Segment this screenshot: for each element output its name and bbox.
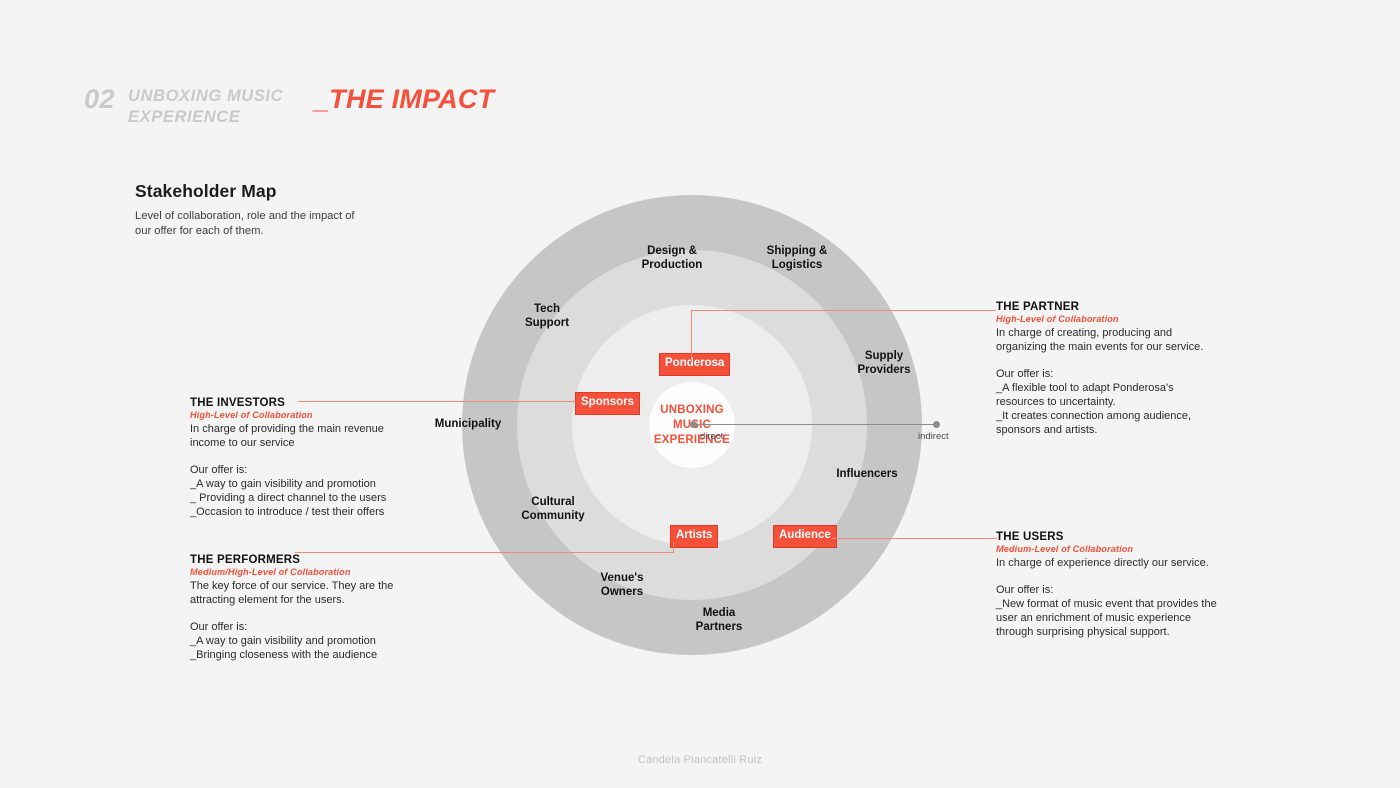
- axis-line: [693, 424, 937, 425]
- axis-label-direct: direct: [700, 431, 723, 442]
- block-investors-body: In charge of providing the main revenue …: [190, 422, 420, 450]
- block-the-partner: THE PARTNER High-Level of Collaboration …: [996, 301, 1218, 438]
- node-supply-providers: Supply Providers: [824, 349, 944, 378]
- header-section-number: 02: [84, 86, 115, 113]
- page-title: Stakeholder Map: [135, 181, 277, 202]
- slide-header: 02 UNBOXING MUSIC EXPERIENCE _THE IMPACT: [84, 86, 494, 128]
- block-partner-level: High-Level of Collaboration: [996, 314, 1218, 324]
- block-partner-offer: Our offer is: _A flexible tool to adapt …: [996, 367, 1218, 437]
- block-partner-title: THE PARTNER: [996, 301, 1218, 313]
- block-the-users: THE USERS Medium-Level of Collaboration …: [996, 531, 1218, 639]
- footer-credit: Candela Piancatelli Ruiz: [0, 754, 1400, 766]
- block-performers-body: The key force of our service. They are t…: [190, 579, 420, 607]
- axis-label-indirect: indirect: [918, 431, 949, 442]
- block-the-investors: THE INVESTORS High-Level of Collaboratio…: [190, 397, 420, 519]
- connector-ponderosa-horizontal: [691, 310, 996, 311]
- block-investors-title: THE INVESTORS: [190, 397, 420, 409]
- node-tech-support: Tech Support: [487, 302, 607, 331]
- axis-dot-indirect: [933, 421, 940, 428]
- node-influencers: Influencers: [807, 467, 927, 481]
- chip-ponderosa[interactable]: Ponderosa: [659, 353, 730, 376]
- block-performers-offer: Our offer is: _A way to gain visibility …: [190, 620, 420, 662]
- block-investors-level: High-Level of Collaboration: [190, 410, 420, 420]
- connector-audience-horizontal: [832, 538, 997, 539]
- chip-artists[interactable]: Artists: [670, 525, 718, 548]
- header-project-subtitle: UNBOXING MUSIC EXPERIENCE: [128, 86, 298, 128]
- node-municipality: Municipality: [408, 417, 528, 431]
- page-subtitle: Level of collaboration, role and the imp…: [135, 209, 355, 239]
- block-users-body: In charge of experience directly our ser…: [996, 556, 1218, 570]
- block-users-title: THE USERS: [996, 531, 1218, 543]
- block-investors-offer: Our offer is: _A way to gain visibility …: [190, 463, 420, 519]
- block-users-offer: Our offer is: _New format of music event…: [996, 583, 1218, 639]
- node-media-partners: Media Partners: [659, 606, 779, 635]
- node-cultural-community: Cultural Community: [493, 495, 613, 524]
- block-performers-title: THE PERFORMERS: [190, 554, 420, 566]
- node-shipping-logistics: Shipping & Logistics: [737, 244, 857, 273]
- axis-dot-direct: [690, 421, 697, 428]
- slide-root: 02 UNBOXING MUSIC EXPERIENCE _THE IMPACT…: [0, 0, 1400, 788]
- connector-ponderosa-vertical: [691, 310, 692, 362]
- node-design-production: Design & Production: [612, 244, 732, 273]
- connector-artists-horizontal: [295, 552, 674, 553]
- block-performers-level: Medium/High-Level of Collaboration: [190, 567, 420, 577]
- block-users-level: Medium-Level of Collaboration: [996, 544, 1218, 554]
- block-the-performers: THE PERFORMERS Medium/High-Level of Coll…: [190, 554, 420, 662]
- chip-sponsors[interactable]: Sponsors: [575, 392, 640, 415]
- stakeholder-map-diagram: UNBOXING MUSIC EXPERIENCE direct indirec…: [462, 195, 922, 655]
- block-partner-body: In charge of creating, producing and org…: [996, 326, 1218, 354]
- header-section-title: _THE IMPACT: [314, 86, 494, 113]
- chip-audience[interactable]: Audience: [773, 525, 837, 548]
- node-venues-owners: Venue's Owners: [562, 571, 682, 600]
